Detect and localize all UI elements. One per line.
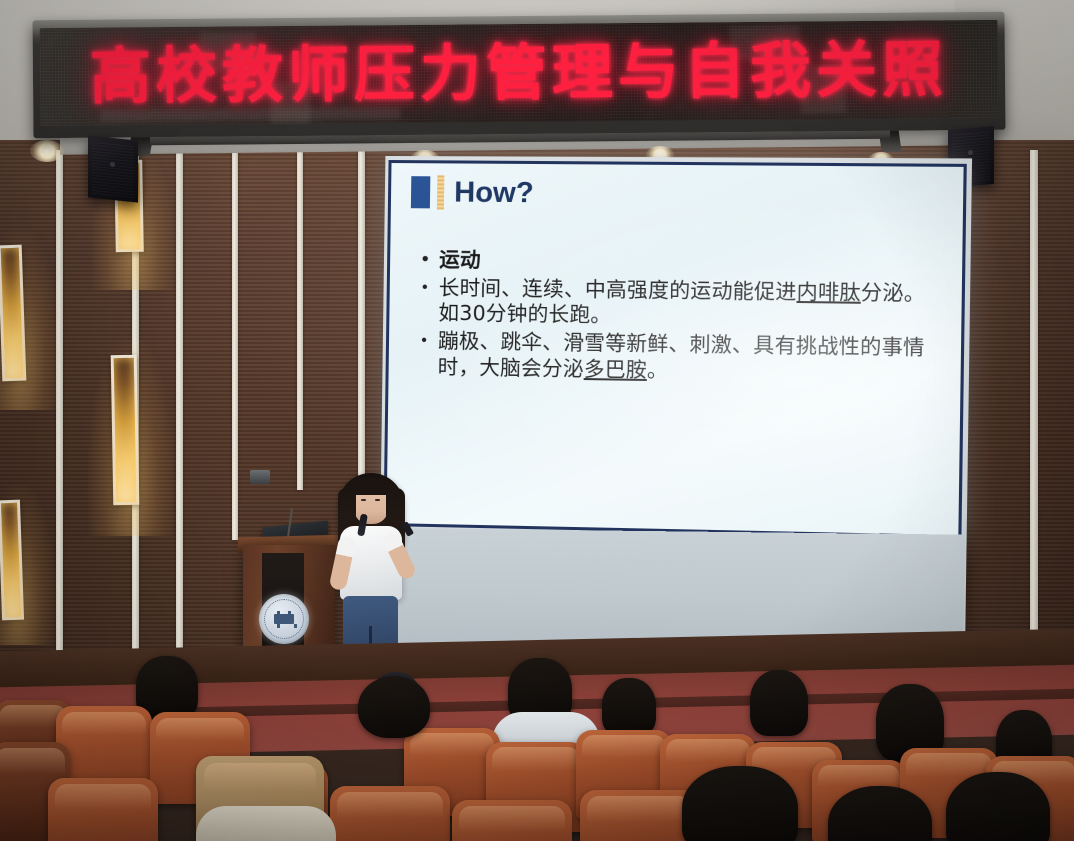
presentation-slide: How? •运动•长时间、连续、中高强度的运动能促进内啡肽分泌。如30分钟的长跑… xyxy=(383,160,966,538)
wall-speaker-left xyxy=(88,135,138,202)
title-marker-blue-icon xyxy=(411,176,430,208)
slide-title-row: How? xyxy=(411,175,534,210)
bullet-segment: 运动 xyxy=(439,248,481,273)
bullet-text: 运动 xyxy=(439,248,944,279)
university-crest-icon xyxy=(259,594,309,644)
bullet-segment: 长时间、连续、中高强度的运动能促进 xyxy=(439,275,797,303)
auditorium-seat xyxy=(330,786,450,841)
bullet-marker-icon: • xyxy=(418,328,429,379)
audience-head xyxy=(602,678,656,736)
slide-bullet: •运动 xyxy=(420,247,944,279)
screen-mount xyxy=(250,470,270,484)
auditorium-seat xyxy=(48,778,158,841)
downlight xyxy=(30,140,64,162)
wall-light-niche xyxy=(0,500,24,621)
projection-screen: How? •运动•长时间、连续、中高强度的运动能促进内啡肽分泌。如30分钟的长跑… xyxy=(382,156,956,648)
wall-trim xyxy=(56,150,63,670)
slide-title: How? xyxy=(454,178,534,208)
audience-head xyxy=(946,772,1050,841)
wall-light-niche xyxy=(111,355,140,505)
slide-bullet: •蹦极、跳伞、滑雪等新鲜、刺激、具有挑战性的事情时，大脑会分泌多巴胺。 xyxy=(418,328,942,387)
wall-trim xyxy=(297,150,303,490)
bullet-keyword: 内啡肽 xyxy=(796,279,861,304)
bullet-segment: 。 xyxy=(647,357,668,382)
auditorium-seat xyxy=(580,790,698,841)
bullet-keyword: 多巴胺 xyxy=(584,356,647,381)
audience-head xyxy=(682,766,798,841)
bullet-marker-icon: • xyxy=(420,247,430,273)
slide-bullet: •长时间、连续、中高强度的运动能促进内啡肽分泌。如30分钟的长跑。 xyxy=(419,275,943,333)
audience-shoulders xyxy=(196,806,336,841)
presenter-fringe xyxy=(351,478,391,495)
led-banner-text: 高校教师压力管理与自我关照 xyxy=(90,39,949,107)
led-banner: 高校教师压力管理与自我关照 xyxy=(33,12,1006,138)
slide-bullet-list: •运动•长时间、连续、中高强度的运动能促进内啡肽分泌。如30分钟的长跑。•蹦极、… xyxy=(418,247,943,389)
bullet-marker-icon: • xyxy=(419,275,430,326)
bullet-segment: 蹦极、跳伞、滑雪等新鲜、刺激、具有挑战性的事情时，大脑会分泌 xyxy=(438,329,925,381)
lecture-hall-photo: 高校教师压力管理与自我关照 How? •运动•长时间、连续、中高强度的运动能促进… xyxy=(0,0,1074,841)
bullet-text: 蹦极、跳伞、滑雪等新鲜、刺激、具有挑战性的事情时，大脑会分泌多巴胺。 xyxy=(438,329,943,388)
bullet-text: 长时间、连续、中高强度的运动能促进内啡肽分泌。如30分钟的长跑。 xyxy=(438,275,943,333)
wall-trim xyxy=(176,150,183,670)
led-panel: 高校教师压力管理与自我关照 xyxy=(40,20,999,126)
audience-head xyxy=(358,676,430,738)
auditorium-seat xyxy=(452,800,572,841)
audience-head xyxy=(750,670,808,736)
title-marker-gold-icon xyxy=(437,175,444,209)
wall-trim xyxy=(232,150,238,540)
wall-trim xyxy=(1030,150,1038,670)
